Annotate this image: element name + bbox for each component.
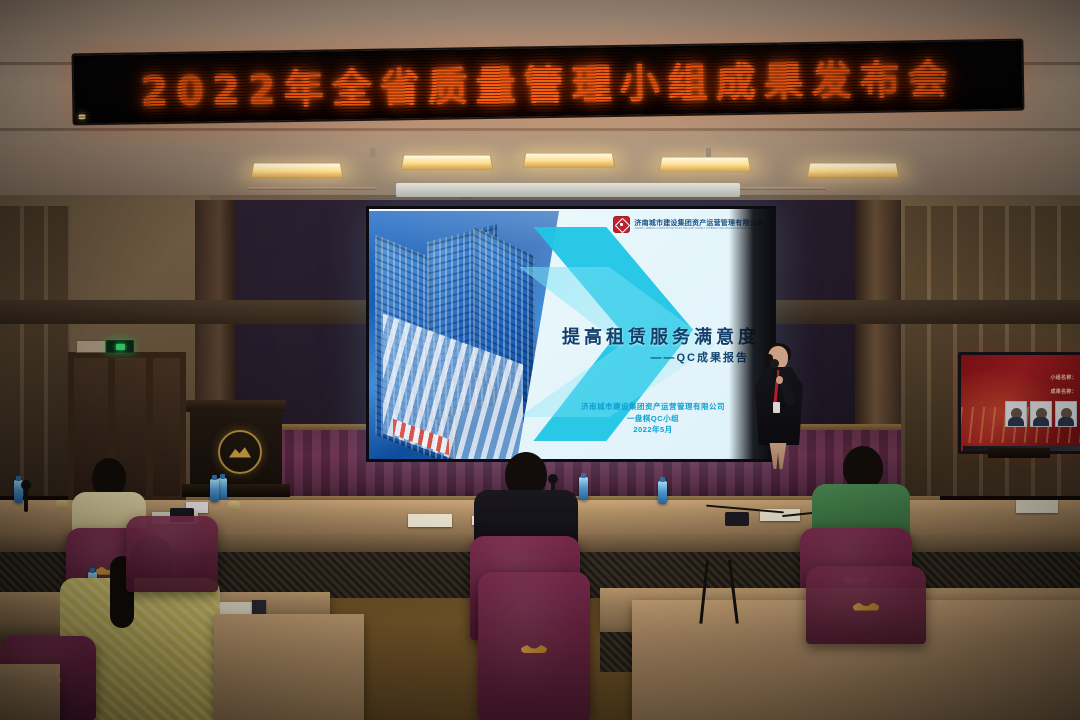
desk-microphone [24, 486, 28, 512]
teacup [56, 500, 68, 510]
sprinkler-icon [370, 148, 375, 157]
water-bottle [218, 478, 227, 501]
wall-fixture [76, 340, 106, 353]
podium-base [182, 484, 290, 497]
ceiling-rail [248, 187, 377, 190]
portrait-thumbnail [1005, 401, 1027, 427]
podium [190, 408, 282, 496]
screen-valance [396, 183, 740, 197]
led-pilot-light-icon [78, 114, 85, 119]
led-banner: 2022年全省质量管理小组成果发布会 [71, 39, 1024, 126]
ceiling-light [659, 157, 752, 172]
monitor-line-1: 小组名称： [1050, 374, 1077, 381]
presenter-legs [768, 443, 788, 469]
portrait-thumbnail [1030, 401, 1052, 427]
laptop-device [725, 512, 749, 526]
projection-screen: 济南城市建设集团资产运营管理有限公司 JINAN URBAN CONSTRUCT… [366, 206, 776, 462]
monitor-line-2: 成果名称： [1050, 388, 1077, 395]
side-monitor: 小组名称： 成果名称： [958, 352, 1080, 454]
door-mullion [146, 358, 153, 496]
side-door[interactable] [68, 352, 186, 502]
chair [806, 566, 926, 644]
water-bottle [579, 477, 588, 500]
ceiling-light [523, 153, 616, 168]
ceiling-light [401, 155, 494, 170]
company-logo-icon [613, 216, 630, 233]
ceiling-light [807, 163, 900, 178]
portrait-thumbnail [1055, 401, 1077, 427]
presentation-slide: 济南城市建设集团资产运营管理有限公司 JINAN URBAN CONSTRUCT… [369, 209, 773, 459]
ceiling-light [251, 163, 344, 178]
presenter [752, 346, 810, 470]
sprinkler-icon [706, 148, 711, 157]
chair [126, 516, 218, 592]
water-bottle [210, 479, 219, 502]
slide-building-photo [369, 211, 559, 459]
ceiling-seam [0, 128, 1080, 131]
presenter-hand [776, 376, 783, 384]
presenter-badge [773, 402, 780, 413]
teacup [228, 501, 240, 511]
handout-paper [408, 514, 452, 527]
chair [478, 572, 590, 720]
led-banner-text: 2022年全省质量管理小组成果发布会 [140, 47, 956, 118]
table-row [214, 614, 364, 720]
handout-paper [1016, 500, 1058, 513]
conference-hall-photo: 2022年全省质量管理小组成果发布会 济南城市建设集团资产运营管理有限公司 [0, 0, 1080, 720]
table-row [0, 664, 60, 720]
monitor-portrait-row [1005, 401, 1077, 427]
water-bottle [658, 481, 667, 504]
left-wall-panel [0, 206, 70, 496]
monitor-stand [988, 448, 1050, 458]
exit-sign-icon [106, 340, 134, 353]
podium-crest-icon [218, 430, 262, 474]
